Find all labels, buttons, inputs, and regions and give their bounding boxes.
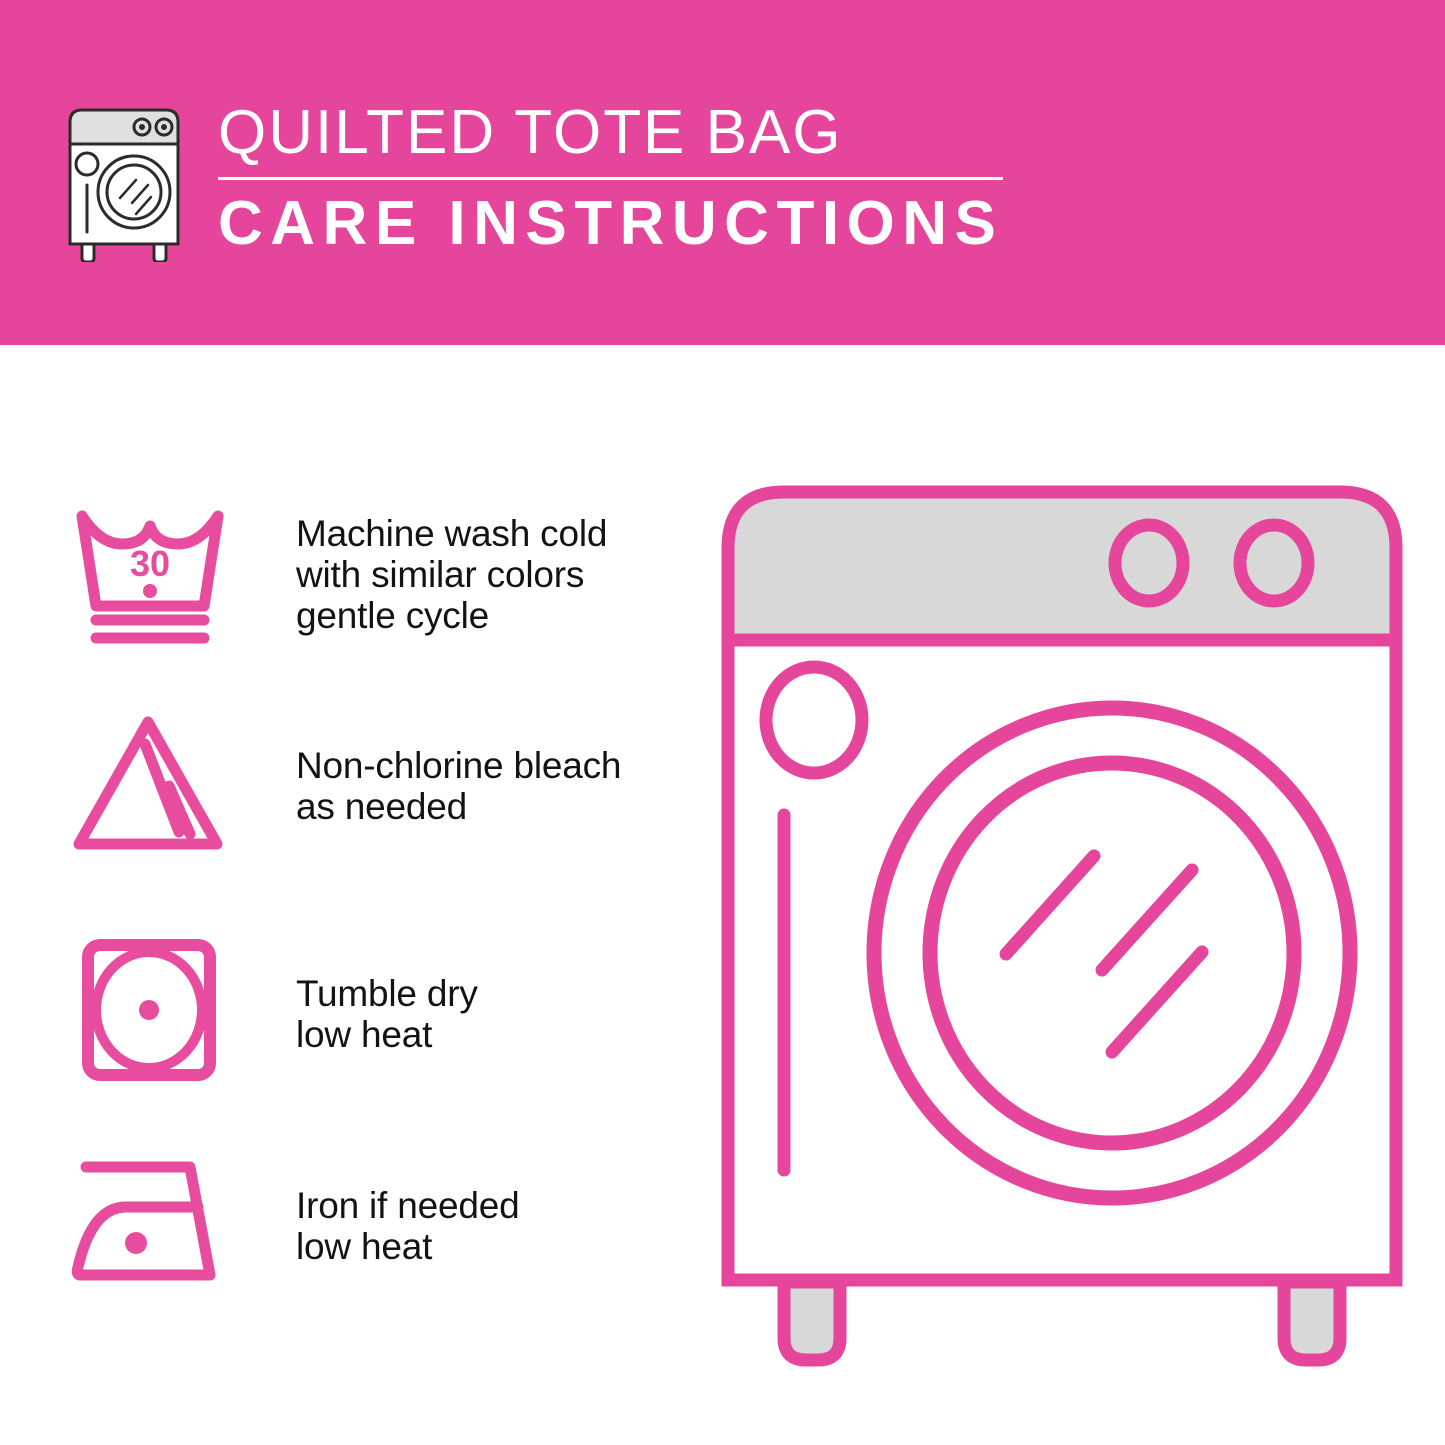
care-text-line: Tumble dry <box>296 973 478 1014</box>
header-content: QUILTED TOTE BAG CARE INSTRUCTIONS <box>58 96 1003 262</box>
washer-knob-2 <box>1240 525 1308 601</box>
care-text-line: Machine wash cold <box>296 513 607 554</box>
care-instructions-list: 30 Machine wash cold with similar colors… <box>0 345 700 1445</box>
bleach-triangle-symbol <box>70 703 230 863</box>
care-text-line: Iron if needed <box>296 1185 519 1226</box>
washer-knob-1 <box>1115 525 1183 601</box>
tumble-dry-icon <box>70 935 230 1085</box>
washer-leg-right <box>1284 1282 1340 1360</box>
iron-heat-dot-icon <box>125 1232 147 1254</box>
care-text-line: Non-chlorine bleach <box>296 745 621 786</box>
washer-leg-left <box>784 1282 840 1360</box>
page-title: QUILTED TOTE BAG <box>218 98 1003 168</box>
dry-heat-dot-icon <box>139 1000 159 1020</box>
care-text-wash: Machine wash cold with similar colors ge… <box>296 513 607 636</box>
care-text-line: low heat <box>296 1014 478 1055</box>
tumble-dry-symbol <box>70 930 230 1090</box>
care-text-iron: Iron if needed low heat <box>296 1185 519 1267</box>
care-row-iron: Iron if needed low heat <box>70 1140 690 1300</box>
care-text-line: low heat <box>296 1226 519 1267</box>
washing-machine-icon <box>58 102 190 262</box>
bleach-triangle-icon <box>70 708 230 858</box>
care-text-bleach: Non-chlorine bleach as needed <box>296 745 621 827</box>
iron-symbol <box>70 1140 230 1300</box>
care-row-dry: Tumble dry low heat <box>70 930 690 1090</box>
wash-tub-symbol: 30 <box>70 493 230 653</box>
header-titles: QUILTED TOTE BAG CARE INSTRUCTIONS <box>218 96 1003 258</box>
care-text-dry: Tumble dry low heat <box>296 973 478 1055</box>
washer-dispenser-icon <box>766 667 862 773</box>
header-banner: QUILTED TOTE BAG CARE INSTRUCTIONS <box>0 0 1445 345</box>
wash-dot-icon <box>143 584 157 598</box>
washing-machine-illustration <box>712 470 1412 1370</box>
page-subtitle: CARE INSTRUCTIONS <box>218 190 1003 258</box>
header-divider <box>218 177 1003 180</box>
care-text-line: gentle cycle <box>296 595 607 636</box>
care-row-wash: 30 Machine wash cold with similar colors… <box>70 493 690 653</box>
care-text-line: with similar colors <box>296 554 607 595</box>
wash-tub-icon: 30 <box>70 498 230 648</box>
wash-temperature-label: 30 <box>130 543 170 584</box>
care-text-line: as needed <box>296 786 621 827</box>
care-row-bleach: Non-chlorine bleach as needed <box>70 703 690 863</box>
iron-icon <box>70 1145 230 1295</box>
